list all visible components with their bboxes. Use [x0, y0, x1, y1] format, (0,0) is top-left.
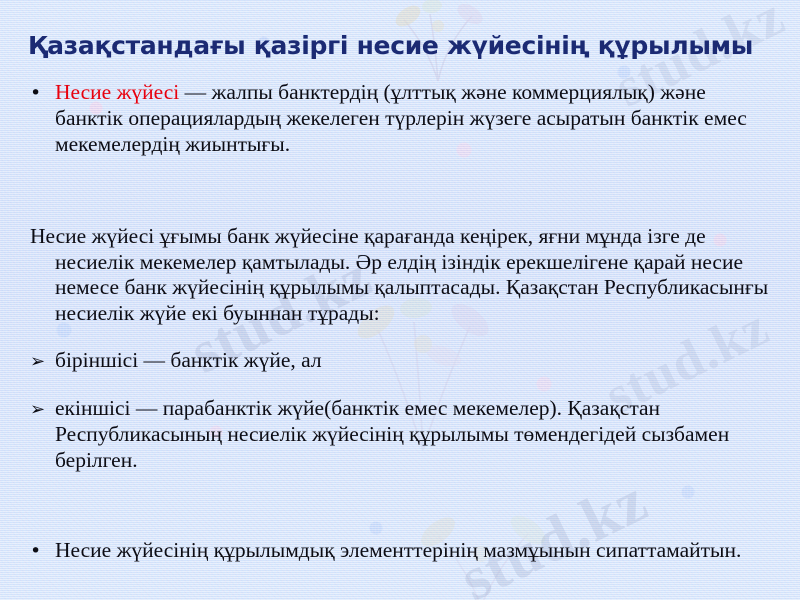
spacer	[0, 179, 800, 203]
arrow-bullet-text: біріншісі — банктік жүйе, ал	[55, 348, 322, 372]
paragraph-text: Несие жүйесі ұғымы банк жүйесіне қараған…	[55, 224, 776, 326]
content-block: •Несие жүйесі — жалпы банктердің (ұлттық…	[0, 80, 800, 600]
arrow-bullet-line: ➢екіншісі — парабанктік жүйе(банктік еме…	[55, 396, 776, 474]
arrow-bullet-icon: ➢	[30, 397, 55, 423]
arrow-bullet-icon: ➢	[30, 349, 55, 375]
slide-title: Қазақстандағы қазіргі несие жүйесінің құ…	[28, 31, 776, 61]
bullet-item: •Несие жүйесі — жалпы банктердің (ұлттық…	[0, 80, 800, 158]
bullet-dot-icon: •	[30, 539, 55, 565]
arrow-bullet-text: екіншісі — парабанктік жүйе(банктік емес…	[55, 396, 729, 472]
paragraph-item: Несие жүйесі ұғымы банк жүйесіне қараған…	[0, 224, 800, 326]
bullet-item: •Несие жүйесінің құрылымдық элементтерін…	[0, 538, 800, 565]
arrow-bullet-item: ➢екіншісі — парабанктік жүйе(банктік еме…	[0, 396, 800, 474]
bullet-text: Несие жүйесінің құрылымдық элементтеріні…	[55, 538, 741, 562]
slide-body: •Несие жүйесі — жалпы банктердің (ұлттық…	[0, 58, 800, 600]
arrow-bullet-item: ➢біріншісі — банктік жүйе, ал	[0, 348, 800, 375]
arrow-bullet-line: ➢біріншісі — банктік жүйе, ал	[55, 348, 776, 375]
slide-canvas: stud.kz stud.kz stud.kz stud.kz Қазақста…	[0, 0, 800, 600]
bullet-highlight-text: Несие жүйесі	[55, 80, 179, 104]
spacer	[0, 586, 800, 600]
bullet-dot-icon: •	[30, 81, 55, 107]
spacer	[0, 495, 800, 517]
